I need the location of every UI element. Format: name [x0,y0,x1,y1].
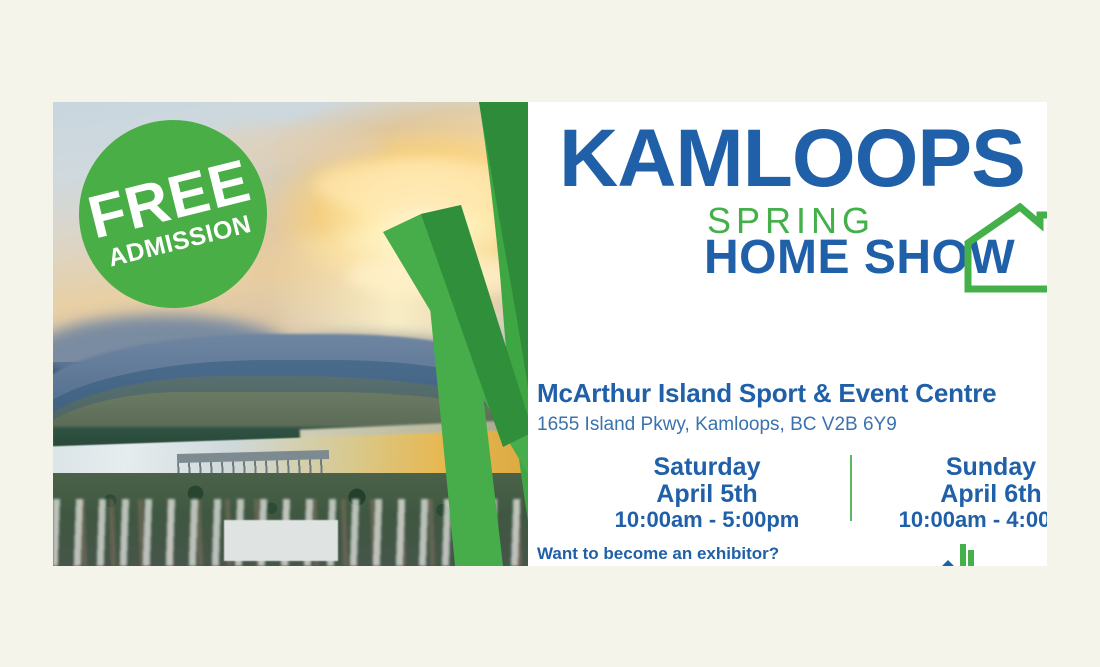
exhibitor-instruction: Visit our website for more information [537,564,844,566]
day-block-sunday: Sunday April 6th 10:00am - 4:00pm [857,454,1047,533]
cloud [314,158,528,214]
event-info-panel: KAMLOOPS SPRING HOME SHOW McArthur Islan… [528,102,1047,566]
day-name: Sunday [857,454,1047,481]
day-hours: 10:00am - 4:00pm [857,508,1047,533]
day-divider [850,455,852,521]
exhibitor-callout: Want to become an exhibitor? Visit our w… [537,543,844,566]
day-block-saturday: Saturday April 5th 10:00am - 5:00pm [573,454,841,533]
cloud [348,255,529,297]
venue-name: McArthur Island Sport & Event Centre [537,378,996,409]
page-title: KAMLOOPS [559,118,1025,200]
poster-card: FREE ADMISSION KAMLOOPS SPRING HOME SHOW… [53,102,1047,566]
day-name: Saturday [573,454,841,481]
day-date: April 6th [857,481,1047,508]
home-show-brand-logo [932,542,978,566]
venue-address: 1655 Island Pkwy, Kamloops, BC V2B 6Y9 [537,414,897,436]
apartment-building [224,520,338,562]
exhibitor-question: Want to become an exhibitor? [537,543,844,564]
house-outline-icon [964,197,1047,295]
kamloops-valley-sunset-photo: FREE ADMISSION [53,102,528,566]
day-date: April 5th [573,481,841,508]
day-hours: 10:00am - 5:00pm [573,508,841,533]
